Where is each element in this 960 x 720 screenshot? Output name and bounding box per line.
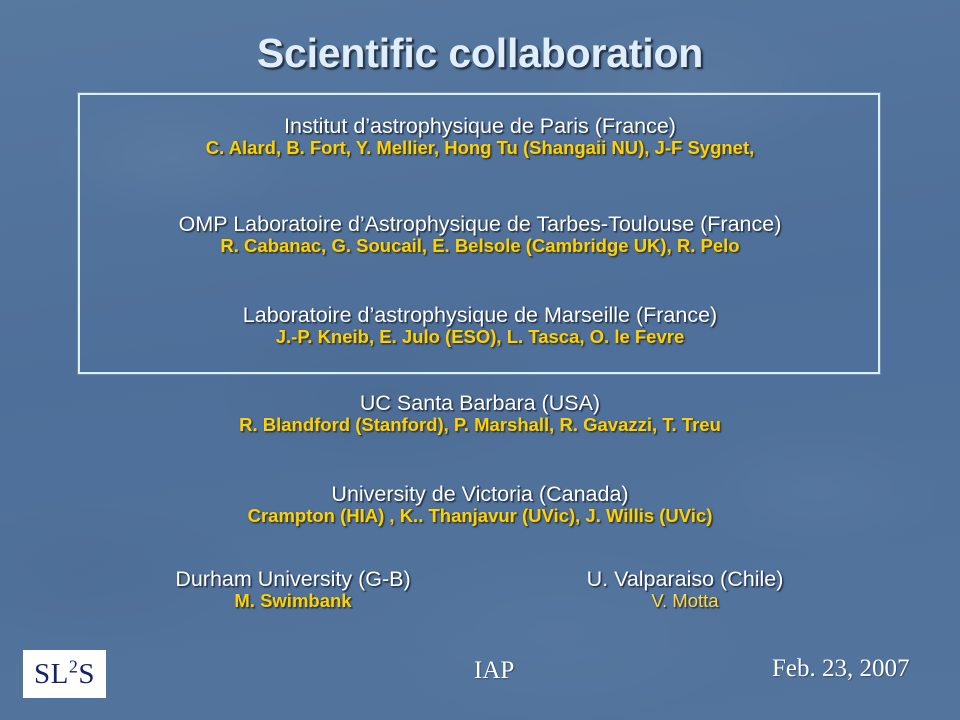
collaboration-entry-omp: OMP Laboratoire d’Astrophysique de Tarbe… <box>0 212 960 257</box>
logo-suffix: S <box>78 658 95 690</box>
collaboration-entry-marseille: Laboratoire d’astrophysique de Marseille… <box>0 303 960 348</box>
collaboration-entry-victoria: University de Victoria (Canada) Crampton… <box>0 482 960 527</box>
organization-name: University de Victoria (Canada) <box>0 482 960 506</box>
organization-name: OMP Laboratoire d’Astrophysique de Tarbe… <box>0 212 960 236</box>
footer-venue: IAP <box>474 657 514 685</box>
organization-name: Durham University (G-B) <box>108 567 478 591</box>
slide-title: Scientific collaboration <box>0 30 960 77</box>
organization-members: Crampton (HIA) , K.. Thanjavur (UVic), J… <box>0 506 960 527</box>
logo-base: SL <box>34 658 69 690</box>
organization-members: C. Alard, B. Fort, Y. Mellier, Hong Tu (… <box>0 138 960 159</box>
organization-members: M. Swimbank <box>108 591 478 612</box>
presentation-slide: Scientific collaboration Institut d’astr… <box>0 0 960 720</box>
organization-members: V. Motta <box>500 591 870 612</box>
organization-members: R. Cabanac, G. Soucail, E. Belsole (Camb… <box>0 236 960 257</box>
organization-name: UC Santa Barbara (USA) <box>0 391 960 415</box>
organization-members: J.-P. Kneib, E. Julo (ESO), L. Tasca, O.… <box>0 327 960 348</box>
sl2s-logo: SL2S <box>23 650 106 698</box>
organization-name: U. Valparaiso (Chile) <box>500 567 870 591</box>
footer-date: Feb. 23, 2007 <box>772 655 910 683</box>
sl2s-logo-text: SL2S <box>34 660 95 689</box>
collaboration-entry-durham: Durham University (G-B) M. Swimbank <box>108 567 478 612</box>
collaboration-entry-valparaiso: U. Valparaiso (Chile) V. Motta <box>500 567 870 612</box>
organization-name: Laboratoire d’astrophysique de Marseille… <box>0 303 960 327</box>
collaboration-entry-ucsb: UC Santa Barbara (USA) R. Blandford (Sta… <box>0 391 960 436</box>
collaboration-entry-iap: Institut d’astrophysique de Paris (Franc… <box>0 114 960 159</box>
organization-members: R. Blandford (Stanford), P. Marshall, R.… <box>0 415 960 436</box>
logo-superscript: 2 <box>69 656 78 676</box>
organization-name: Institut d’astrophysique de Paris (Franc… <box>0 114 960 138</box>
